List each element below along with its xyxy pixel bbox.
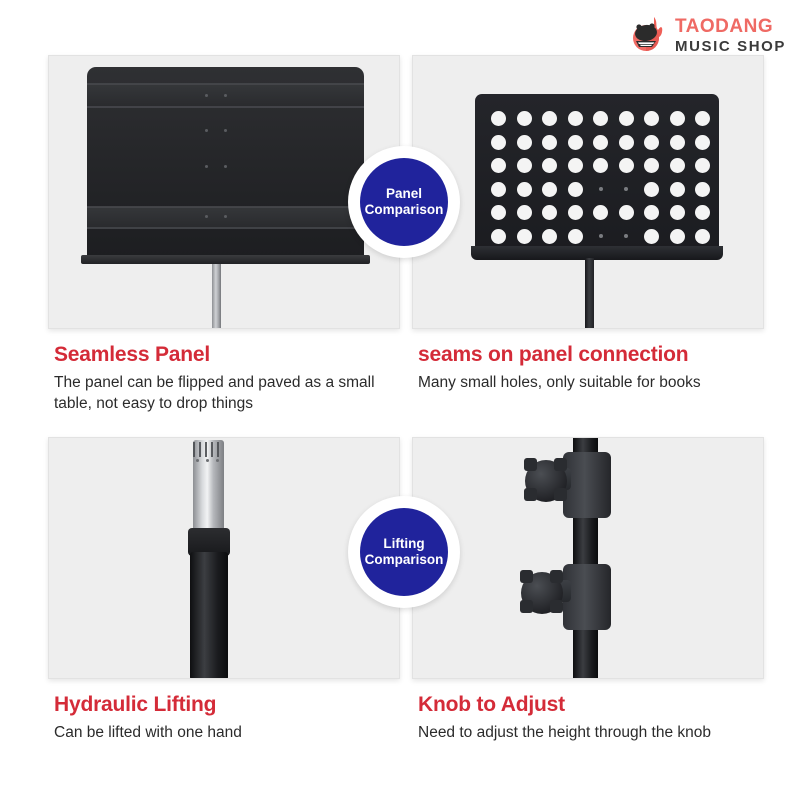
card-perforated-panel: seams on panel connection Many small hol… <box>412 55 764 415</box>
knob-clamp-illustration <box>533 438 663 679</box>
panel-hole <box>517 205 532 220</box>
panel-hole <box>619 135 634 150</box>
card-subtitle: Can be lifted with one hand <box>54 723 384 744</box>
panel-hole <box>670 135 685 150</box>
panel-hole <box>517 111 532 126</box>
panel-hole <box>517 229 532 244</box>
panel-hole <box>542 182 557 197</box>
caption-seamless-panel: Seamless Panel The panel can be flipped … <box>48 329 400 415</box>
panel-hole <box>491 182 506 197</box>
card-seamless-panel: Seamless Panel The panel can be flipped … <box>48 55 400 415</box>
hydraulic-pole-illustration <box>179 438 239 679</box>
card-title: seams on panel connection <box>418 343 758 366</box>
brand-logo: TAODANG MUSIC SHOP <box>627 14 786 56</box>
card-title: Seamless Panel <box>54 343 394 366</box>
panel-hole <box>695 229 710 244</box>
photo-hydraulic-lifting <box>48 437 400 679</box>
panel-hole <box>491 111 506 126</box>
badge-line-2: Comparison <box>365 202 444 218</box>
panel-hole <box>491 158 506 173</box>
card-knob-to-adjust: Knob to Adjust Need to adjust the height… <box>412 437 764 744</box>
badge-panel-comparison: Panel Comparison <box>348 146 460 258</box>
panel-hole <box>644 135 659 150</box>
card-title: Knob to Adjust <box>418 693 758 716</box>
panel-hole <box>670 111 685 126</box>
panel-hole <box>644 205 659 220</box>
panel-hole <box>542 158 557 173</box>
brand-name: TAODANG <box>675 17 786 36</box>
card-subtitle: Many small holes, only suitable for book… <box>418 373 748 394</box>
panel-hole <box>542 135 557 150</box>
panel-hole <box>517 158 532 173</box>
caption-hydraulic-lifting: Hydraulic Lifting Can be lifted with one… <box>48 679 400 744</box>
panel-hole <box>491 229 506 244</box>
panel-hole <box>568 135 583 150</box>
perforated-panel-illustration <box>475 94 719 262</box>
badge-line-2: Comparison <box>365 552 444 568</box>
card-title: Hydraulic Lifting <box>54 693 394 716</box>
brand-wordmark: TAODANG MUSIC SHOP <box>675 17 786 54</box>
panel-hole <box>568 182 583 197</box>
seamless-panel-illustration <box>87 67 364 257</box>
panel-hole <box>670 229 685 244</box>
caption-perforated-panel: seams on panel connection Many small hol… <box>412 329 764 394</box>
panel-screw-dot <box>599 187 603 191</box>
panel-hole <box>517 135 532 150</box>
panel-hole <box>619 158 634 173</box>
photo-perforated-panel <box>412 55 764 329</box>
panel-hole <box>568 205 583 220</box>
panel-hole <box>491 135 506 150</box>
panel-screw-dot <box>624 187 628 191</box>
brand-tagline: MUSIC SHOP <box>675 39 786 54</box>
panel-hole <box>568 158 583 173</box>
panel-hole <box>695 205 710 220</box>
panel-hole <box>568 229 583 244</box>
panel-hole <box>593 205 608 220</box>
panel-hole <box>644 111 659 126</box>
panel-hole <box>644 229 659 244</box>
card-hydraulic-lifting: Hydraulic Lifting Can be lifted with one… <box>48 437 400 744</box>
caption-knob-to-adjust: Knob to Adjust Need to adjust the height… <box>412 679 764 744</box>
panel-hole <box>695 135 710 150</box>
panel-screw-dot <box>599 234 603 238</box>
panel-hole <box>644 182 659 197</box>
panel-hole <box>593 111 608 126</box>
photo-knob-to-adjust <box>412 437 764 679</box>
panel-hole <box>542 111 557 126</box>
panel-hole <box>593 135 608 150</box>
panel-hole <box>695 111 710 126</box>
panel-hole <box>619 111 634 126</box>
panel-hole <box>670 182 685 197</box>
panel-hole <box>644 158 659 173</box>
badge-line-1: Panel <box>386 186 422 202</box>
card-subtitle: The panel can be flipped and paved as a … <box>54 373 384 415</box>
panel-hole <box>568 111 583 126</box>
card-subtitle: Need to adjust the height through the kn… <box>418 723 748 744</box>
panel-screw-dot <box>624 234 628 238</box>
panel-hole <box>542 229 557 244</box>
ladybug-flame-icon <box>627 14 669 56</box>
badge-line-1: Lifting <box>383 536 424 552</box>
panel-hole <box>593 158 608 173</box>
panel-hole <box>517 182 532 197</box>
panel-hole <box>670 158 685 173</box>
panel-hole <box>491 205 506 220</box>
panel-hole <box>695 158 710 173</box>
panel-hole <box>542 205 557 220</box>
photo-seamless-panel <box>48 55 400 329</box>
infographic-page: TAODANG MUSIC SHOP Panel Comparison Lift… <box>0 0 800 800</box>
panel-hole <box>670 205 685 220</box>
panel-hole <box>695 182 710 197</box>
badge-lifting-comparison: Lifting Comparison <box>348 496 460 608</box>
panel-hole <box>619 205 634 220</box>
